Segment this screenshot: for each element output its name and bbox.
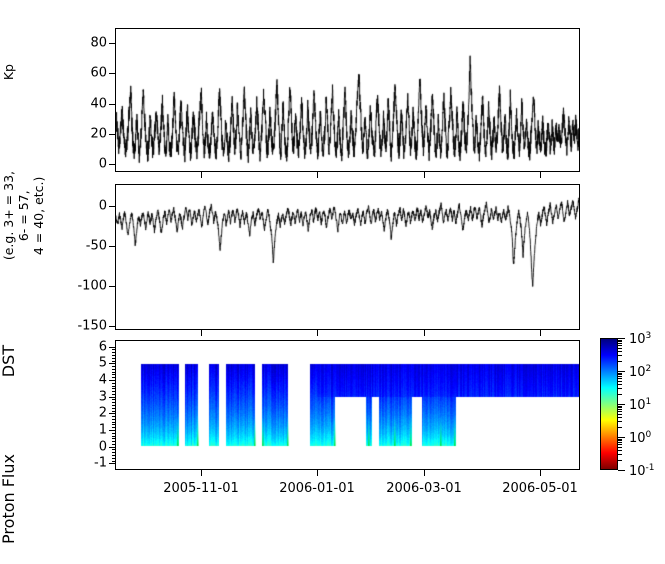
xtick-mark (540, 330, 541, 336)
ytick-label: 6 (69, 341, 107, 354)
colorbar-minor-tick (618, 343, 622, 344)
colorbar-minor-tick (618, 460, 622, 461)
colorbar-minor-tick (618, 454, 622, 455)
colorbar-tick-label: 103 (629, 330, 651, 346)
colorbar-minor-tick (618, 411, 622, 412)
xtick-mark (424, 470, 425, 476)
ytick-label: 1 (69, 424, 107, 437)
xtick-mark (317, 470, 318, 476)
dst-plot-panel (115, 184, 580, 330)
ytick-label: 4 (69, 374, 107, 387)
xtick-mark (540, 172, 541, 178)
flux-axis-title: Proton Flux (0, 434, 16, 564)
xtick-label: 2006-05-01 (502, 482, 578, 495)
colorbar-minor-tick (618, 376, 622, 377)
xtick-mark (424, 172, 425, 178)
kp-note-line2: 6- = 57, (16, 191, 31, 242)
colorbar-minor-tick (618, 406, 622, 407)
flux-spectrogram (116, 341, 579, 469)
ytick-label: 0 (69, 200, 107, 213)
xtick-mark (201, 330, 202, 336)
colorbar-minor-tick (618, 447, 622, 448)
colorbar-minor-tick (618, 361, 622, 362)
kp-plot-panel (115, 28, 580, 172)
ytick-label: 80 (69, 37, 107, 50)
colorbar-minor-tick (618, 388, 622, 389)
colorbar-minor-tick (618, 348, 622, 349)
flux-axis-title-text: Proton Flux (0, 454, 18, 544)
colorbar-minor-tick (618, 409, 622, 410)
xtick-mark (317, 330, 318, 336)
ytick-label: 5 (69, 357, 107, 370)
ytick-label: 2 (69, 407, 107, 420)
xtick-mark (540, 470, 541, 476)
colorbar-minor-tick (618, 345, 622, 346)
colorbar-minor-tick (618, 373, 622, 374)
colorbar-minor-tick (618, 442, 622, 443)
colorbar-tick (618, 470, 625, 471)
colorbar-minor-tick (618, 378, 622, 379)
dst-trace (116, 185, 579, 329)
kp-axis-note-text: (e.g. 3+ = 33,6- = 57,4 = 40, etc.) (1, 171, 46, 260)
ytick-label: -1 (69, 457, 107, 470)
figure-canvas: Kp (e.g. 3+ = 33,6- = 57,4 = 40, etc.) 0… (0, 0, 665, 523)
xtick-label: 2005-11-01 (163, 482, 239, 495)
colorbar-tick (618, 437, 625, 438)
ytick-label: 0 (69, 158, 107, 171)
xtick-mark (201, 470, 202, 476)
kp-note-line1: (e.g. 3+ = 33, (1, 171, 16, 260)
xtick-mark (201, 172, 202, 178)
xtick-label: 2006-01-01 (279, 482, 355, 495)
kp-axis-title-text: Kp (1, 64, 16, 80)
colorbar-minor-tick (618, 384, 622, 385)
colorbar-minor-tick (618, 381, 622, 382)
dst-axis-title: DST (0, 288, 16, 434)
colorbar-minor-tick (618, 417, 622, 418)
colorbar-minor-tick (618, 440, 622, 441)
ytick-label: 20 (69, 128, 107, 141)
dst-axis-title-text: DST (0, 345, 18, 377)
colorbar-tick-label: 10-1 (629, 462, 655, 478)
ytick-label: -100 (69, 280, 107, 293)
ytick-label: 60 (69, 67, 107, 80)
colorbar-minor-tick (618, 427, 622, 428)
xtick-mark (317, 172, 318, 178)
colorbar-tick (618, 371, 625, 372)
colorbar-minor-tick (618, 355, 622, 356)
colorbar-minor-tick (618, 407, 622, 408)
colorbar-minor-tick (618, 444, 622, 445)
ytick-label: 0 (69, 441, 107, 454)
ytick-label: 40 (69, 98, 107, 111)
colorbar-minor-tick (618, 394, 622, 395)
ytick-label: 3 (69, 391, 107, 404)
colorbar-minor-tick (618, 450, 622, 451)
colorbar-minor-tick (618, 341, 622, 342)
colorbar-tick-label: 100 (629, 429, 651, 445)
ytick-label: -150 (69, 320, 107, 333)
ytick-label: -50 (69, 240, 107, 253)
colorbar-tick-label: 102 (629, 363, 651, 379)
colorbar-tick-label: 101 (629, 396, 651, 412)
colorbar-minor-tick (618, 414, 622, 415)
colorbar-minor-tick (618, 340, 622, 341)
kp-axis-title: Kp (0, 0, 16, 144)
kp-note-line3: 4 = 40, etc.) (31, 177, 46, 256)
colorbar (600, 338, 618, 470)
kp-axis-note: (e.g. 3+ = 33,6- = 57,4 = 40, etc.) (0, 144, 46, 288)
colorbar-minor-tick (618, 439, 622, 440)
colorbar-minor-tick (618, 374, 622, 375)
colorbar-minor-tick (618, 351, 622, 352)
colorbar-minor-tick (618, 421, 622, 422)
flux-plot-panel (115, 340, 580, 470)
colorbar-gradient (601, 339, 617, 469)
colorbar-tick (618, 404, 625, 405)
xtick-mark (424, 330, 425, 336)
xtick-label: 2006-03-01 (386, 482, 462, 495)
kp-trace (116, 29, 579, 171)
colorbar-tick (618, 338, 625, 339)
